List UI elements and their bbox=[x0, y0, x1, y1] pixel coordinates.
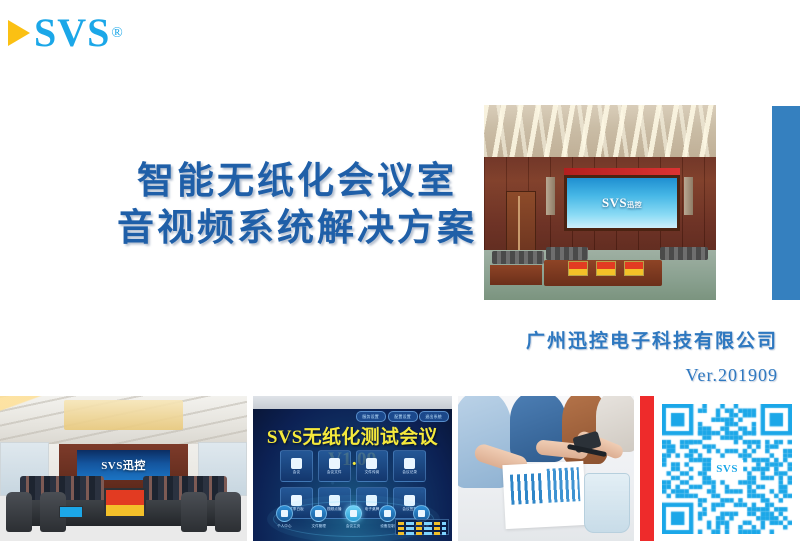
dock-item-device-control[interactable]: 设备控制 bbox=[379, 505, 396, 529]
status-line bbox=[398, 532, 446, 535]
ceiling-light-coffer bbox=[64, 400, 183, 430]
home-icon bbox=[345, 505, 362, 522]
seat-row bbox=[492, 251, 544, 264]
strip-team-discussion-photo bbox=[458, 396, 635, 541]
seat-row bbox=[660, 247, 708, 260]
strip-meeting-room-photo: SVS迅控 bbox=[0, 396, 247, 541]
tab-config-settings[interactable]: 配置设置 bbox=[388, 411, 418, 422]
chair bbox=[6, 492, 32, 532]
status-line bbox=[398, 522, 446, 525]
search-doc-icon bbox=[366, 458, 377, 469]
qr-area[interactable]: SVS bbox=[654, 396, 800, 541]
play-triangle-icon bbox=[8, 20, 30, 46]
title-line-1: 智能无纸化会议室 bbox=[112, 158, 482, 205]
clipboard-icon bbox=[291, 458, 302, 469]
tab-exit-system-label: 退出系统 bbox=[420, 412, 448, 421]
award-plaque bbox=[624, 261, 644, 276]
user-icon bbox=[276, 505, 293, 522]
tablet-device bbox=[59, 506, 83, 518]
hero-conference-room-image: SVS迅控 bbox=[484, 105, 716, 300]
tile-label: 会议文件 bbox=[327, 471, 342, 475]
status-info-box bbox=[395, 519, 449, 535]
red-banner bbox=[564, 168, 680, 175]
award-plaque bbox=[596, 261, 616, 276]
tile-meeting-files[interactable]: 会议文件 bbox=[318, 450, 351, 482]
version-label: Ver.201909 bbox=[526, 365, 778, 386]
tile-meeting[interactable]: 会议 bbox=[280, 450, 313, 482]
chair bbox=[215, 492, 241, 532]
files-icon bbox=[310, 505, 327, 522]
dock-item-file-management[interactable]: 文件管理 bbox=[310, 505, 327, 529]
dock-item-meeting-home[interactable]: 会议主页 bbox=[345, 505, 362, 529]
tile-file-review[interactable]: 文件传阅 bbox=[356, 450, 389, 482]
ceiling bbox=[484, 105, 716, 161]
bar-chart-graphic bbox=[546, 467, 580, 502]
qr-container: SVS bbox=[640, 396, 800, 541]
seat-row bbox=[546, 247, 588, 260]
laptop-display bbox=[104, 488, 146, 518]
dock-item-personal-center[interactable]: 个人中心 bbox=[276, 505, 293, 529]
dock-label: 个人中心 bbox=[277, 524, 291, 529]
page-title: 智能无纸化会议室 音视频系统解决方案 bbox=[112, 158, 482, 252]
brand-wordmark: SVS bbox=[34, 13, 110, 53]
screen-brand-suffix: 迅控 bbox=[627, 201, 642, 209]
right-accent-bar bbox=[772, 106, 800, 300]
tab-service-settings[interactable]: 服务设置 bbox=[356, 411, 386, 422]
report-paper bbox=[502, 461, 586, 529]
screen-brand-text: SVS迅控 bbox=[101, 457, 146, 473]
bar-chart-graphic bbox=[509, 473, 543, 504]
tile-label: 会议记录 bbox=[402, 471, 417, 475]
qr-center-label: SVS bbox=[711, 460, 743, 478]
tab-service-settings-label: 服务设置 bbox=[357, 412, 385, 421]
registered-trademark-icon: ® bbox=[111, 25, 122, 42]
tab-exit-system[interactable]: 退出系统 bbox=[419, 411, 449, 422]
bottom-image-strip: SVS迅控 服务设置 配置设置 退出系统 SVS无纸化测试会议V1.09 会议 bbox=[0, 396, 800, 541]
document-icon bbox=[329, 458, 340, 469]
strip-qr-code: SVS bbox=[640, 396, 800, 541]
network-icon bbox=[379, 505, 396, 522]
tab-config-settings-label: 配置设置 bbox=[389, 412, 417, 421]
tile-label: 文件传阅 bbox=[365, 471, 380, 475]
ui-window-titlebar bbox=[253, 396, 451, 409]
red-accent-bar bbox=[640, 396, 654, 541]
brand-logo: SVS ® bbox=[8, 10, 123, 56]
chair bbox=[181, 492, 207, 532]
company-name: 广州迅控电子科技有限公司 bbox=[526, 328, 778, 355]
status-line bbox=[398, 527, 446, 530]
company-info: 广州迅控电子科技有限公司 Ver.201909 bbox=[526, 328, 778, 386]
note-icon bbox=[404, 458, 415, 469]
tile-label: 会议 bbox=[293, 471, 300, 475]
led-display-screen: SVS迅控 bbox=[564, 175, 680, 231]
screen-brand-text: SVS迅控 bbox=[602, 195, 642, 211]
side-table bbox=[490, 265, 542, 285]
door bbox=[506, 191, 536, 255]
tile-meeting-notes[interactable]: 会议记录 bbox=[393, 450, 426, 482]
dock-label: 设备控制 bbox=[380, 524, 394, 529]
water-glass bbox=[584, 473, 630, 533]
title-line-2: 音视频系统解决方案 bbox=[112, 205, 482, 252]
wall-pillar bbox=[546, 177, 555, 215]
dock-label: 会议主页 bbox=[346, 524, 360, 529]
strip-software-ui-screenshot: 服务设置 配置设置 退出系统 SVS无纸化测试会议V1.09 会议 会议文件 文… bbox=[253, 396, 451, 541]
wall-pillar bbox=[684, 177, 693, 215]
dock-label: 文件管理 bbox=[312, 524, 326, 529]
award-plaque bbox=[568, 261, 588, 276]
